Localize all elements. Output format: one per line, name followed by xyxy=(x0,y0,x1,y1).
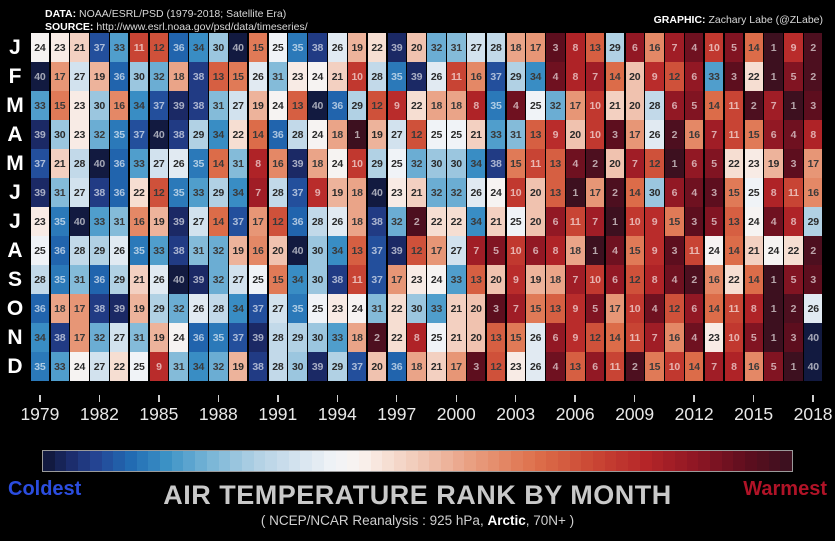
heatmap-cell: 40 xyxy=(169,265,187,294)
heatmap-cell: 18 xyxy=(348,323,366,352)
heatmap-cell: 18 xyxy=(169,62,187,91)
heatmap-cell: 8 xyxy=(249,149,267,178)
heatmap-cell: 3 xyxy=(804,265,822,294)
heatmap-cell: 3 xyxy=(665,236,683,265)
colorbar-segment xyxy=(652,451,664,471)
heatmap-cell: 8 xyxy=(804,120,822,149)
heatmap-cell: 11 xyxy=(606,352,624,381)
heatmap-cell: 35 xyxy=(110,120,128,149)
heatmap-cell: 8 xyxy=(725,352,743,381)
heatmap-cell: 23 xyxy=(745,149,763,178)
heatmap-cell: 20 xyxy=(487,265,505,294)
colorbar-segment xyxy=(698,451,710,471)
heatmap-cell: 10 xyxy=(348,149,366,178)
heatmap-row: 3930233235374038293422143628241811927122… xyxy=(30,120,823,149)
year-label: 1985 xyxy=(139,404,178,425)
heatmap-cell: 2 xyxy=(804,236,822,265)
heatmap-cell: 16 xyxy=(745,352,763,381)
heatmap-cell: 21 xyxy=(447,323,465,352)
heatmap-cell: 15 xyxy=(665,207,683,236)
heatmap-cell: 38 xyxy=(169,120,187,149)
heatmap-cell: 17 xyxy=(526,33,544,62)
colorbar-segment xyxy=(394,451,406,471)
heatmap-cell: 37 xyxy=(368,236,386,265)
colorbar-segment xyxy=(43,451,55,471)
year-label: 2009 xyxy=(615,404,654,425)
heatmap-cell: 9 xyxy=(645,236,663,265)
heatmap-cell: 11 xyxy=(526,149,544,178)
heatmap-cell: 39 xyxy=(407,62,425,91)
heatmap-cell: 23 xyxy=(288,62,306,91)
heatmap-cell: 14 xyxy=(209,149,227,178)
heatmap-cell: 16 xyxy=(269,149,287,178)
heatmap-cell: 27 xyxy=(110,323,128,352)
heatmap-cell: 3 xyxy=(784,149,802,178)
heatmap-cell: 17 xyxy=(70,294,88,323)
heatmap-cell: 30 xyxy=(407,294,425,323)
heatmap-cell: 6 xyxy=(665,91,683,120)
heatmap-cell: 35 xyxy=(189,149,207,178)
heatmap-cell: 33 xyxy=(487,120,505,149)
heatmap-cell: 3 xyxy=(546,33,564,62)
heatmap-cell: 7 xyxy=(626,149,644,178)
heatmap-cell: 13 xyxy=(348,236,366,265)
heatmap-cell: 8 xyxy=(467,91,485,120)
heatmap-cell: 20 xyxy=(368,352,386,381)
heatmap-cell: 5 xyxy=(586,294,604,323)
subtitle-post: , 70N+ ) xyxy=(526,513,574,528)
heatmap-cell: 3 xyxy=(784,323,802,352)
heatmap-cell: 22 xyxy=(725,265,743,294)
colorbar-segment xyxy=(78,451,90,471)
heatmap-cell: 25 xyxy=(388,149,406,178)
heatmap-cell: 35 xyxy=(130,236,148,265)
heatmap-cell: 14 xyxy=(606,62,624,91)
heatmap-cell: 26 xyxy=(328,33,346,62)
heatmap-cell: 13 xyxy=(546,178,564,207)
heatmap-row: 3931273836221235332934728379191840232132… xyxy=(30,178,823,207)
heatmap-cell: 17 xyxy=(388,265,406,294)
heatmap-cell: 18 xyxy=(566,236,584,265)
colorbar-segment xyxy=(137,451,149,471)
heatmap-cell: 34 xyxy=(31,323,49,352)
heatmap-cell: 38 xyxy=(249,352,267,381)
heatmap-cell: 23 xyxy=(328,294,346,323)
heatmap-cell: 18 xyxy=(328,120,346,149)
heatmap-cell: 25 xyxy=(507,207,525,236)
heatmap-cell: 5 xyxy=(685,91,703,120)
heatmap-cell: 36 xyxy=(31,294,49,323)
heatmap-cell: 32 xyxy=(427,33,445,62)
heatmap-cell: 31 xyxy=(368,294,386,323)
colorbar-segment xyxy=(511,451,523,471)
colorbar-segment xyxy=(733,451,745,471)
heatmap-cell: 39 xyxy=(288,149,306,178)
colorbar-segment xyxy=(675,451,687,471)
heatmap-cell: 24 xyxy=(705,236,723,265)
heatmap-cell: 37 xyxy=(90,33,108,62)
heatmap-row: 2536282926353338313219162040303413373912… xyxy=(30,236,823,265)
colorbar-segment xyxy=(382,451,394,471)
heatmap-cell: 16 xyxy=(110,91,128,120)
heatmap-cell: 4 xyxy=(546,352,564,381)
heatmap-cell: 37 xyxy=(368,265,386,294)
heatmap-cell: 33 xyxy=(90,207,108,236)
heatmap-cell: 15 xyxy=(249,33,267,62)
colorbar-segment xyxy=(300,451,312,471)
heatmap-cell: 30 xyxy=(209,33,227,62)
heatmap-cell: 11 xyxy=(447,62,465,91)
heatmap-cell: 26 xyxy=(189,294,207,323)
colorbar-segment xyxy=(113,451,125,471)
heatmap-cell: 31 xyxy=(169,352,187,381)
month-label-november: N xyxy=(0,323,30,352)
heatmap-cell: 31 xyxy=(51,178,69,207)
heatmap-cell: 30 xyxy=(51,120,69,149)
heatmap-cell: 2 xyxy=(784,294,802,323)
heatmap-cell: 27 xyxy=(269,294,287,323)
colorbar-segment xyxy=(476,451,488,471)
heatmap-cell: 18 xyxy=(407,352,425,381)
heatmap-cell: 24 xyxy=(308,62,326,91)
heatmap-cell: 9 xyxy=(566,294,584,323)
heatmap-cell: 29 xyxy=(368,149,386,178)
heatmap-grid: 2423213733111236343040152535382619223920… xyxy=(30,33,823,395)
heatmap-cell: 25 xyxy=(447,120,465,149)
year-tick xyxy=(337,395,338,402)
colorbar-segment xyxy=(488,451,500,471)
heatmap-cell: 25 xyxy=(130,352,148,381)
heatmap-cell: 13 xyxy=(487,323,505,352)
heatmap-cell: 37 xyxy=(130,120,148,149)
heatmap-cell: 37 xyxy=(288,178,306,207)
heatmap-cell: 38 xyxy=(51,323,69,352)
heatmap-cell: 14 xyxy=(745,265,763,294)
colorbar-segment xyxy=(254,451,266,471)
colorbar-segment xyxy=(242,451,254,471)
heatmap-cell: 16 xyxy=(645,33,663,62)
heatmap-cell: 39 xyxy=(189,265,207,294)
heatmap-cell: 39 xyxy=(169,207,187,236)
heatmap-cell: 31 xyxy=(507,120,525,149)
heatmap-cell: 26 xyxy=(645,120,663,149)
heatmap-cell: 28 xyxy=(31,265,49,294)
heatmap-cell: 20 xyxy=(566,120,584,149)
heatmap-cell: 38 xyxy=(169,236,187,265)
heatmap-cell: 6 xyxy=(764,120,782,149)
heatmap-cell: 3 xyxy=(487,294,505,323)
heatmap-cell: 22 xyxy=(427,207,445,236)
heatmap-cell: 21 xyxy=(606,91,624,120)
heatmap-cell: 12 xyxy=(407,236,425,265)
colorbar-segment xyxy=(148,451,160,471)
heatmap-cell: 35 xyxy=(209,323,227,352)
heatmap-cell: 10 xyxy=(725,323,743,352)
heatmap-cell: 19 xyxy=(150,207,168,236)
heatmap-cell: 27 xyxy=(229,265,247,294)
heatmap-cell: 9 xyxy=(388,91,406,120)
heatmap-cell: 29 xyxy=(348,91,366,120)
heatmap-cell: 13 xyxy=(467,265,485,294)
heatmap-cell: 36 xyxy=(388,352,406,381)
heatmap-cell: 38 xyxy=(308,33,326,62)
colorbar-segment xyxy=(336,451,348,471)
heatmap-cell: 14 xyxy=(685,352,703,381)
heatmap-cell: 14 xyxy=(606,323,624,352)
heatmap-cell: 28 xyxy=(269,352,287,381)
heatmap-cell: 19 xyxy=(249,91,267,120)
heatmap-cell: 23 xyxy=(70,120,88,149)
heatmap-cell: 10 xyxy=(705,33,723,62)
heatmap-cell: 34 xyxy=(288,265,306,294)
heatmap-cell: 12 xyxy=(645,149,663,178)
heatmap-cell: 34 xyxy=(526,62,544,91)
heatmap-cell: 38 xyxy=(487,149,505,178)
year-label: 2018 xyxy=(794,404,833,425)
heatmap-cell: 12 xyxy=(487,352,505,381)
heatmap-cell: 22 xyxy=(407,91,425,120)
heatmap-cell: 6 xyxy=(526,236,544,265)
heatmap-cell: 23 xyxy=(70,91,88,120)
colorbar-segment xyxy=(66,451,78,471)
heatmap-cell: 33 xyxy=(447,265,465,294)
heatmap-cell: 24 xyxy=(31,33,49,62)
colorbar xyxy=(42,450,793,472)
heatmap-cell: 28 xyxy=(645,91,663,120)
heatmap-cell: 4 xyxy=(566,149,584,178)
heatmap-cell: 6 xyxy=(665,178,683,207)
heatmap-cell: 18 xyxy=(348,207,366,236)
colorbar-segment xyxy=(769,451,781,471)
heatmap-cell: 37 xyxy=(249,294,267,323)
colorbar-segment xyxy=(745,451,757,471)
heatmap-cell: 21 xyxy=(51,149,69,178)
heatmap-cell: 29 xyxy=(288,323,306,352)
heatmap-cell: 27 xyxy=(229,91,247,120)
heatmap-cell: 15 xyxy=(745,120,763,149)
heatmap-cell: 19 xyxy=(526,265,544,294)
heatmap-cell: 30 xyxy=(427,149,445,178)
heatmap-cell: 15 xyxy=(507,149,525,178)
heatmap-cell: 25 xyxy=(308,294,326,323)
heatmap-cell: 39 xyxy=(388,33,406,62)
heatmap-cell: 31 xyxy=(130,323,148,352)
heatmap-cell: 20 xyxy=(606,149,624,178)
heatmap-cell: 18 xyxy=(507,33,525,62)
heatmap-cell: 22 xyxy=(229,120,247,149)
heatmap-cell: 25 xyxy=(269,33,287,62)
year-label: 2012 xyxy=(675,404,714,425)
colorbar-segment xyxy=(219,451,231,471)
heatmap-cell: 33 xyxy=(189,178,207,207)
heatmap-row: 3315233016343739383127192413403629129221… xyxy=(30,91,823,120)
heatmap-cell: 10 xyxy=(586,120,604,149)
heatmap-cell: 40 xyxy=(150,120,168,149)
graphic-text: Zachary Labe (@ZLabe) xyxy=(706,14,823,26)
colorbar-segment xyxy=(616,451,628,471)
colorbar-segment xyxy=(757,451,769,471)
month-label-august: A xyxy=(0,236,30,265)
heatmap-cell: 24 xyxy=(308,120,326,149)
heatmap-cell: 1 xyxy=(348,120,366,149)
heatmap-cell: 38 xyxy=(368,207,386,236)
heatmap-cell: 33 xyxy=(150,236,168,265)
heatmap-cell: 20 xyxy=(407,33,425,62)
heatmap-cell: 22 xyxy=(447,207,465,236)
colorbar-segment xyxy=(183,451,195,471)
heatmap-cell: 7 xyxy=(665,33,683,62)
heatmap-cell: 8 xyxy=(784,207,802,236)
year-label: 2015 xyxy=(734,404,773,425)
heatmap-cell: 30 xyxy=(288,352,306,381)
heatmap-cell: 10 xyxy=(586,91,604,120)
heatmap-cell: 35 xyxy=(31,352,49,381)
colorbar-segment xyxy=(581,451,593,471)
heatmap-cell: 39 xyxy=(388,236,406,265)
heatmap-cell: 12 xyxy=(665,62,683,91)
heatmap-cell: 24 xyxy=(70,352,88,381)
heatmap-cell: 40 xyxy=(308,91,326,120)
heatmap-cell: 21 xyxy=(467,120,485,149)
heatmap-cell: 33 xyxy=(51,352,69,381)
heatmap-cell: 33 xyxy=(705,62,723,91)
year-tick xyxy=(574,395,575,402)
heatmap-cell: 5 xyxy=(705,207,723,236)
month-label-june: J xyxy=(0,178,30,207)
heatmap-cell: 33 xyxy=(31,91,49,120)
heatmap-cell: 24 xyxy=(764,236,782,265)
heatmap-cell: 11 xyxy=(348,265,366,294)
heatmap-cell: 13 xyxy=(288,91,306,120)
heatmap-cell: 4 xyxy=(764,207,782,236)
heatmap-cell: 9 xyxy=(150,352,168,381)
heatmap-cell: 38 xyxy=(189,91,207,120)
heatmap-cell: 2 xyxy=(586,149,604,178)
graphic-label: GRAPHIC: xyxy=(654,14,706,26)
colorbar-segment xyxy=(441,451,453,471)
heatmap-cell: 21 xyxy=(70,33,88,62)
heatmap-cell: 40 xyxy=(90,149,108,178)
year-tick xyxy=(396,395,397,402)
heatmap-cell: 31 xyxy=(189,236,207,265)
colorbar-segment xyxy=(347,451,359,471)
heatmap-cell: 8 xyxy=(764,178,782,207)
heatmap-cell: 20 xyxy=(526,207,544,236)
heatmap-cell: 19 xyxy=(229,352,247,381)
heatmap-cell: 39 xyxy=(31,120,49,149)
heatmap-cell: 35 xyxy=(487,91,505,120)
heatmap-cell: 1 xyxy=(665,149,683,178)
colorbar-segment xyxy=(289,451,301,471)
heatmap-row: 3721284036332726351431816391824102925323… xyxy=(30,149,823,178)
heatmap-cell: 4 xyxy=(685,33,703,62)
colorbar-segment xyxy=(546,451,558,471)
heatmap-cell: 11 xyxy=(784,178,802,207)
source-text: http://www.esrl.noaa.gov/psd/data/timese… xyxy=(93,21,307,33)
colorbar-segment xyxy=(207,451,219,471)
heatmap-cell: 24 xyxy=(745,207,763,236)
colorbar-segment xyxy=(628,451,640,471)
heatmap-cell: 25 xyxy=(745,178,763,207)
heatmap-cell: 1 xyxy=(764,33,782,62)
heatmap-cell: 15 xyxy=(507,323,525,352)
colorbar-segment xyxy=(312,451,324,471)
heatmap-cell: 29 xyxy=(804,207,822,236)
heatmap-cell: 22 xyxy=(110,352,128,381)
heatmap-cell: 27 xyxy=(70,62,88,91)
heatmap-cell: 4 xyxy=(685,323,703,352)
heatmap-cell: 30 xyxy=(308,323,326,352)
heatmap-cell: 33 xyxy=(130,149,148,178)
year-label: 2006 xyxy=(556,404,595,425)
heatmap-cell: 23 xyxy=(705,323,723,352)
heatmap-cell: 29 xyxy=(150,294,168,323)
heatmap-cell: 37 xyxy=(229,207,247,236)
heatmap-cell: 13 xyxy=(526,120,544,149)
heatmap-cell: 26 xyxy=(328,207,346,236)
heatmap-cell: 28 xyxy=(269,178,287,207)
heatmap-cell: 2 xyxy=(685,265,703,294)
year-label: 1982 xyxy=(80,404,119,425)
heatmap-cell: 2 xyxy=(626,352,644,381)
heatmap-cell: 15 xyxy=(229,62,247,91)
heatmap-cell: 18 xyxy=(348,178,366,207)
heatmap-cell: 2 xyxy=(606,178,624,207)
month-label-march: M xyxy=(0,91,30,120)
heatmap-cell: 40 xyxy=(229,33,247,62)
heatmap-cell: 7 xyxy=(586,62,604,91)
heatmap-cell: 31 xyxy=(110,207,128,236)
heatmap-cell: 7 xyxy=(645,323,663,352)
heatmap-cell: 4 xyxy=(665,265,683,294)
heatmap-cell: 34 xyxy=(229,294,247,323)
heatmap-cell: 34 xyxy=(328,236,346,265)
heatmap-cell: 7 xyxy=(249,178,267,207)
heatmap-cell: 9 xyxy=(645,207,663,236)
heatmap-cell: 1 xyxy=(586,236,604,265)
heatmap-cell: 4 xyxy=(645,294,663,323)
heatmap-cell: 4 xyxy=(546,62,564,91)
heatmap-cell: 16 xyxy=(249,236,267,265)
heatmap-cell: 16 xyxy=(804,178,822,207)
heatmap-cell: 15 xyxy=(725,178,743,207)
heatmap-cell: 35 xyxy=(51,207,69,236)
heatmap-cell: 2 xyxy=(407,207,425,236)
colorbar-segment xyxy=(102,451,114,471)
heatmap-cell: 5 xyxy=(764,352,782,381)
heatmap-cell: 7 xyxy=(566,265,584,294)
heatmap-cell: 13 xyxy=(566,352,584,381)
heatmap-cell: 27 xyxy=(90,352,108,381)
heatmap-cell: 1 xyxy=(566,178,584,207)
heatmap-cell: 29 xyxy=(328,352,346,381)
month-label-may: M xyxy=(0,149,30,178)
heatmap-cell: 22 xyxy=(388,294,406,323)
heatmap-cell: 19 xyxy=(150,323,168,352)
heatmap-cell: 21 xyxy=(745,236,763,265)
heatmap-cell: 14 xyxy=(705,91,723,120)
heatmap-cell: 4 xyxy=(606,236,624,265)
heatmap-cell: 27 xyxy=(70,178,88,207)
heatmap-cell: 35 xyxy=(288,33,306,62)
heatmap-cell: 1 xyxy=(764,62,782,91)
heatmap-cell: 11 xyxy=(626,323,644,352)
heatmap-cell: 7 xyxy=(467,236,485,265)
heatmap-cell: 32 xyxy=(388,207,406,236)
month-label-february: F xyxy=(0,62,30,91)
heatmap-cell: 35 xyxy=(51,265,69,294)
colorbar-segment xyxy=(570,451,582,471)
